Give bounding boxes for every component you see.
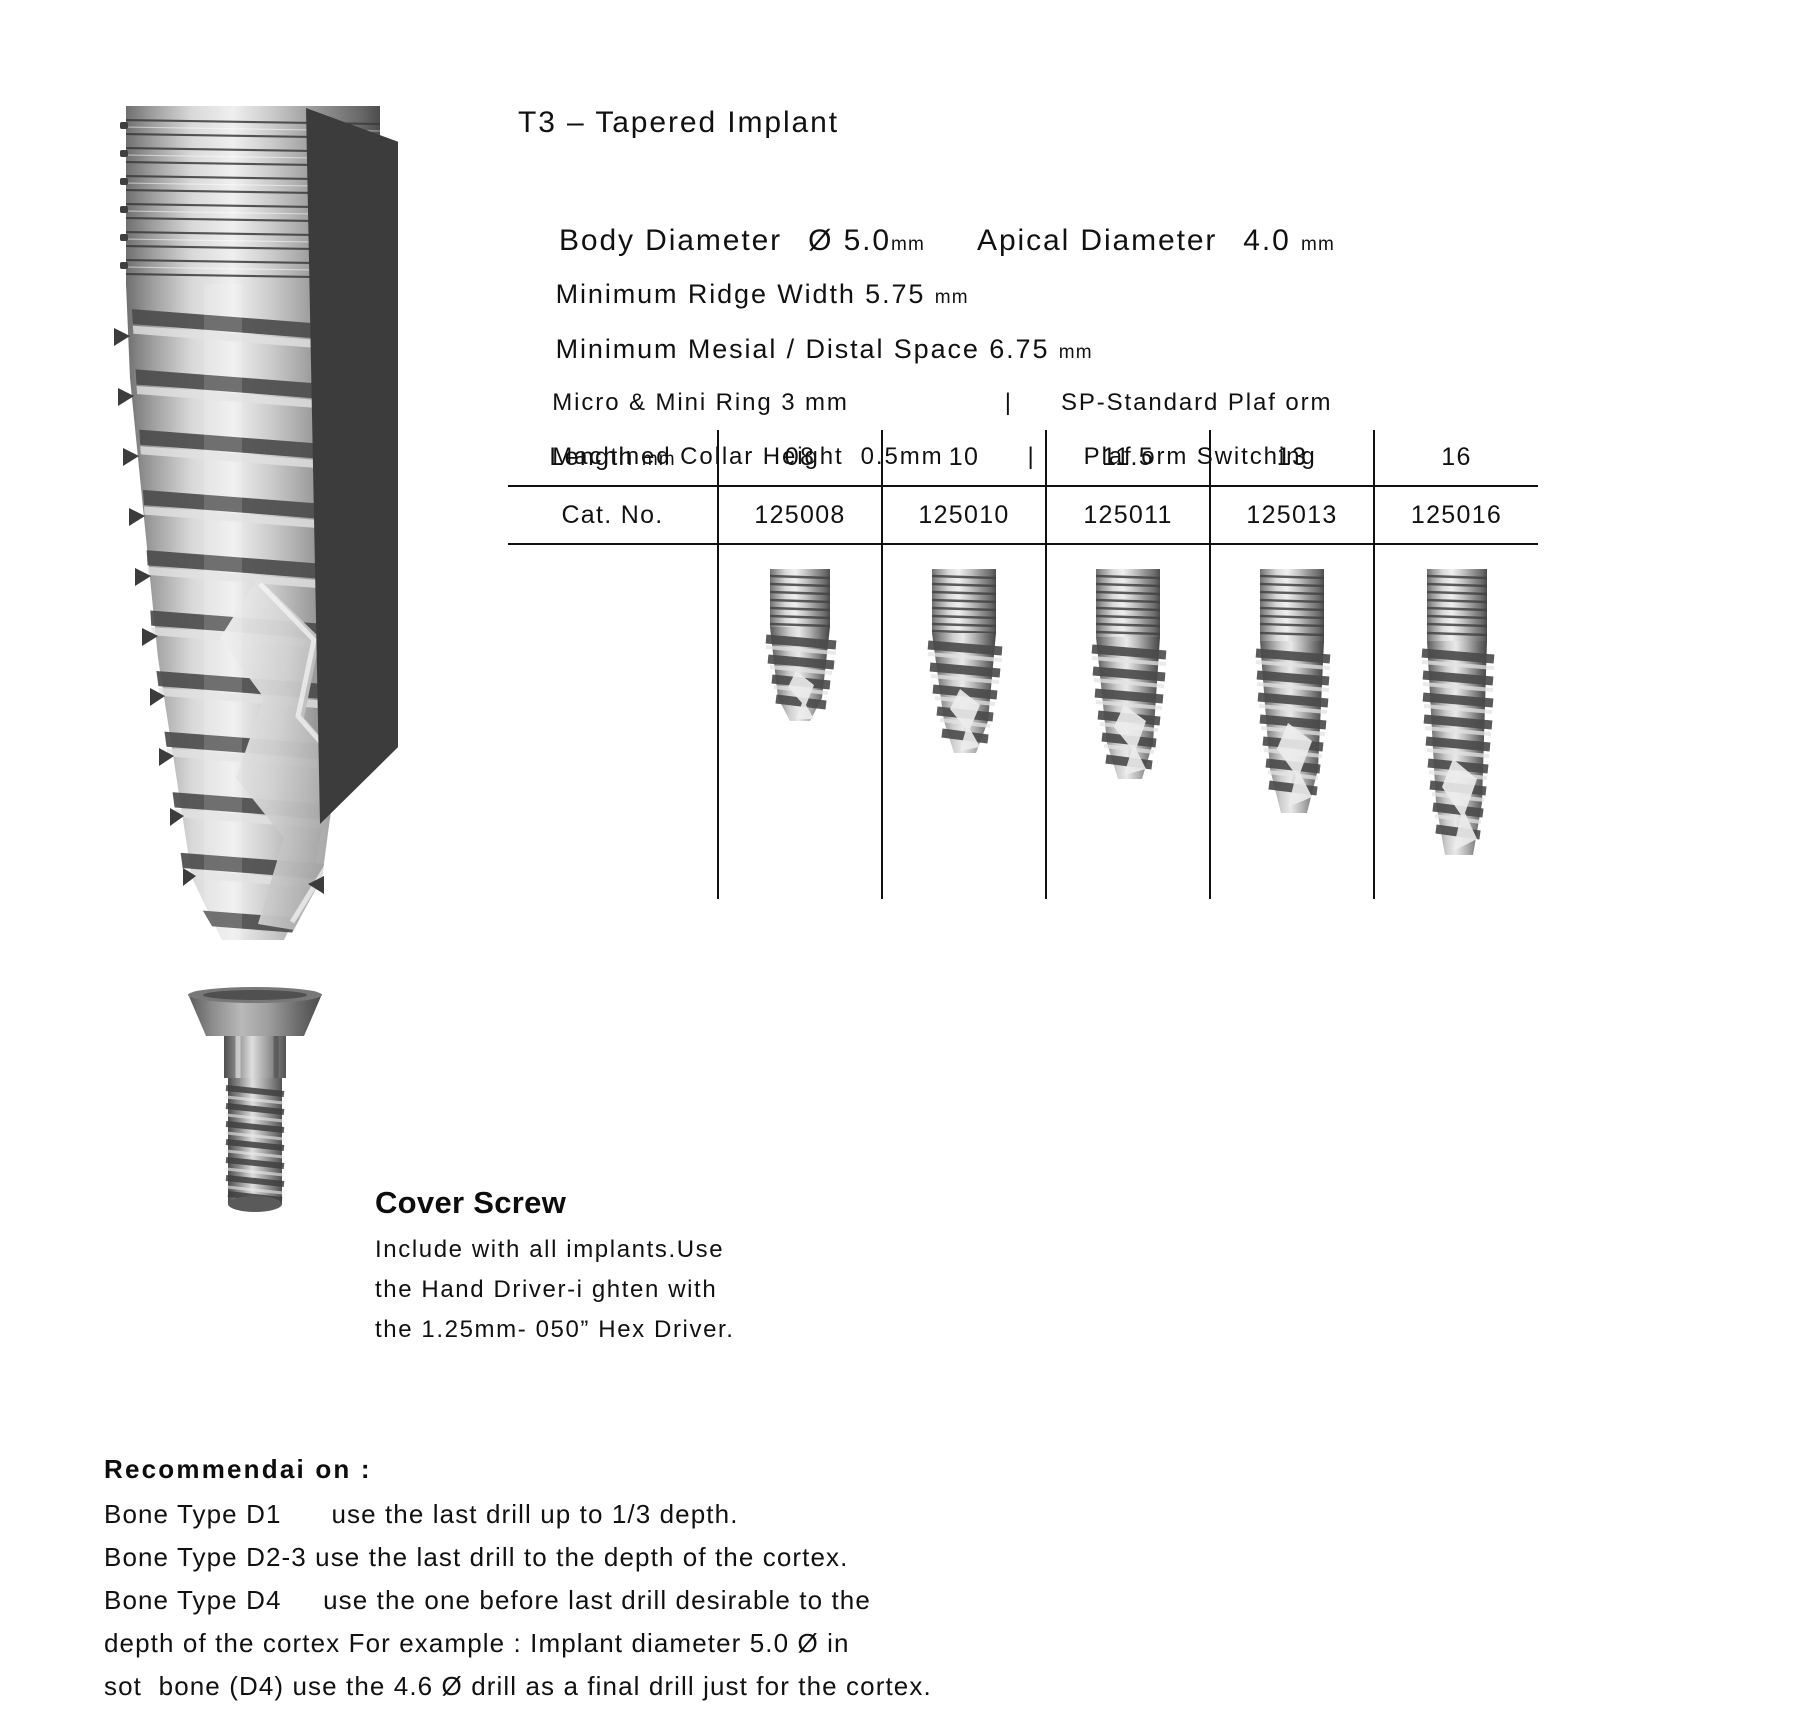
recommendation-block: Recommendai on : Bone Type D1 use the la…	[104, 1445, 1224, 1708]
apical-diameter-value: 4.0	[1243, 224, 1290, 257]
cat-cell-0: 125008	[718, 486, 882, 544]
recommendation-line-1: Bone Type D1 use the last drill up to 1/…	[104, 1493, 1224, 1536]
implant-illustration	[108, 78, 398, 953]
min-mesial-distal-unit: mm	[1059, 342, 1093, 363]
specification-block: T3 – Tapered Implant Body DiameterØ 5.0m…	[518, 92, 1518, 430]
recommendation-line-5: sot bone (D4) use the 4.6 Ø drill as a f…	[104, 1665, 1224, 1708]
platform-standard-text: SP-Standard Plaf orm	[1061, 389, 1332, 416]
implant-thumb-16	[1409, 563, 1505, 893]
micro-mini-ring-text: Micro & Mini Ring 3 mm	[552, 389, 849, 416]
table-row-thumbnails	[508, 544, 1538, 899]
cat-cell-1: 125010	[882, 486, 1046, 544]
apical-diameter-label: Apical Diameter	[977, 224, 1217, 257]
table-row-length: Length mm 08 10 11.5 13 16	[508, 430, 1538, 486]
cover-screw-title: Cover Screw	[375, 1180, 845, 1226]
thumbnail-cell-1	[882, 544, 1046, 899]
thumbnail-cell-3	[1210, 544, 1374, 899]
min-ridge-width-text: Minimum Ridge Width 5.75	[556, 279, 926, 309]
thumbnail-row-spacer	[508, 544, 718, 899]
thumbnail-cell-4	[1374, 544, 1538, 899]
cover-screw-line-2: the Hand Driver-i ghten with	[375, 1270, 845, 1310]
cat-row-label: Cat. No.	[508, 486, 718, 544]
length-row-label: Length mm	[508, 430, 718, 486]
recommendation-line-3: Bone Type D4 use the one before last dri…	[104, 1579, 1224, 1622]
length-cell-3: 13	[1210, 430, 1374, 486]
product-title: T3 – Tapered Implant	[518, 92, 1518, 154]
recommendation-title: Recommendai on :	[104, 1445, 1224, 1493]
recommendation-line-2: Bone Type D2-3 use the last drill to the…	[104, 1536, 1224, 1579]
body-diameter-label: Body Diameter	[559, 224, 782, 257]
cover-screw-image	[180, 980, 330, 1230]
length-cell-2: 11.5	[1046, 430, 1210, 486]
min-mesial-distal-text: Minimum Mesial / Distal Space 6.75	[556, 334, 1050, 364]
size-catalog-table: Length mm 08 10 11.5 13 16 Cat. No. 1250…	[508, 430, 1538, 900]
thumbnail-cell-0	[718, 544, 882, 899]
cover-screw-line-1: Include with all implants.Use	[375, 1230, 845, 1270]
diameter-line: Body DiameterØ 5.0mmApical Diameter4.0 m…	[518, 154, 1518, 212]
recommendation-line-4: depth of the cortex For example : Implan…	[104, 1622, 1224, 1665]
thumbnail-cell-2	[1046, 544, 1210, 899]
body-diameter-unit: mm	[891, 234, 925, 255]
implant-thumb-13	[1244, 563, 1340, 848]
apical-diameter-unit: mm	[1301, 234, 1335, 255]
column-separator: |	[1005, 389, 1013, 416]
min-ridge-width-unit: mm	[935, 287, 969, 308]
length-label-unit: mm	[642, 449, 676, 470]
length-cell-1: 10	[882, 430, 1046, 486]
cover-screw-line-3: the 1.25mm- 050” Hex Driver.	[375, 1310, 845, 1350]
length-label-text: Length	[549, 443, 633, 471]
length-cell-0: 08	[718, 430, 882, 486]
implant-thumb-08	[752, 563, 848, 753]
table-row-catalog: Cat. No. 125008 125010 125011 125013 125…	[508, 486, 1538, 544]
cat-cell-4: 125016	[1374, 486, 1538, 544]
cat-cell-2: 125011	[1046, 486, 1210, 544]
cover-screw-text-block: Cover Screw Include with all implants.Us…	[375, 1180, 845, 1350]
implant-thumb-10	[916, 563, 1012, 783]
cover-screw-illustration	[180, 980, 330, 1230]
body-diameter-value: 5.0	[844, 224, 891, 257]
cat-cell-3: 125013	[1210, 486, 1374, 544]
diameter-symbol: Ø	[808, 224, 833, 257]
length-cell-4: 16	[1374, 430, 1538, 486]
implant-thumb-11-5	[1080, 563, 1176, 813]
main-implant-image	[108, 78, 398, 953]
